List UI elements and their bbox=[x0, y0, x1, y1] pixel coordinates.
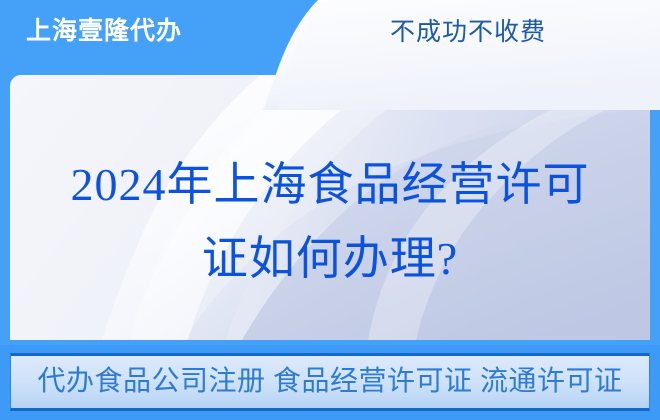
promo-banner: 上海壹隆代办 不成功不收费 2024年上海食品经营许可 证如何办理? 代办食品公… bbox=[0, 0, 660, 420]
header-bar: 上海壹隆代办 不成功不收费 bbox=[0, 0, 660, 76]
footer-bar: 代办食品公司注册 食品经营许可证 流通许可证 bbox=[0, 345, 660, 420]
headline-line-1: 2024年上海食品经营许可 bbox=[0, 148, 660, 222]
headline-line-2: 证如何办理? bbox=[0, 222, 660, 296]
headline: 2024年上海食品经营许可 证如何办理? bbox=[0, 148, 660, 296]
slogan-text: 不成功不收费 bbox=[390, 20, 546, 45]
footer-inner-panel: 代办食品公司注册 食品经营许可证 流通许可证 bbox=[10, 353, 650, 411]
brand-name: 上海壹隆代办 bbox=[26, 19, 182, 44]
footer-keywords: 代办食品公司注册 食品经营许可证 流通许可证 bbox=[37, 368, 622, 396]
